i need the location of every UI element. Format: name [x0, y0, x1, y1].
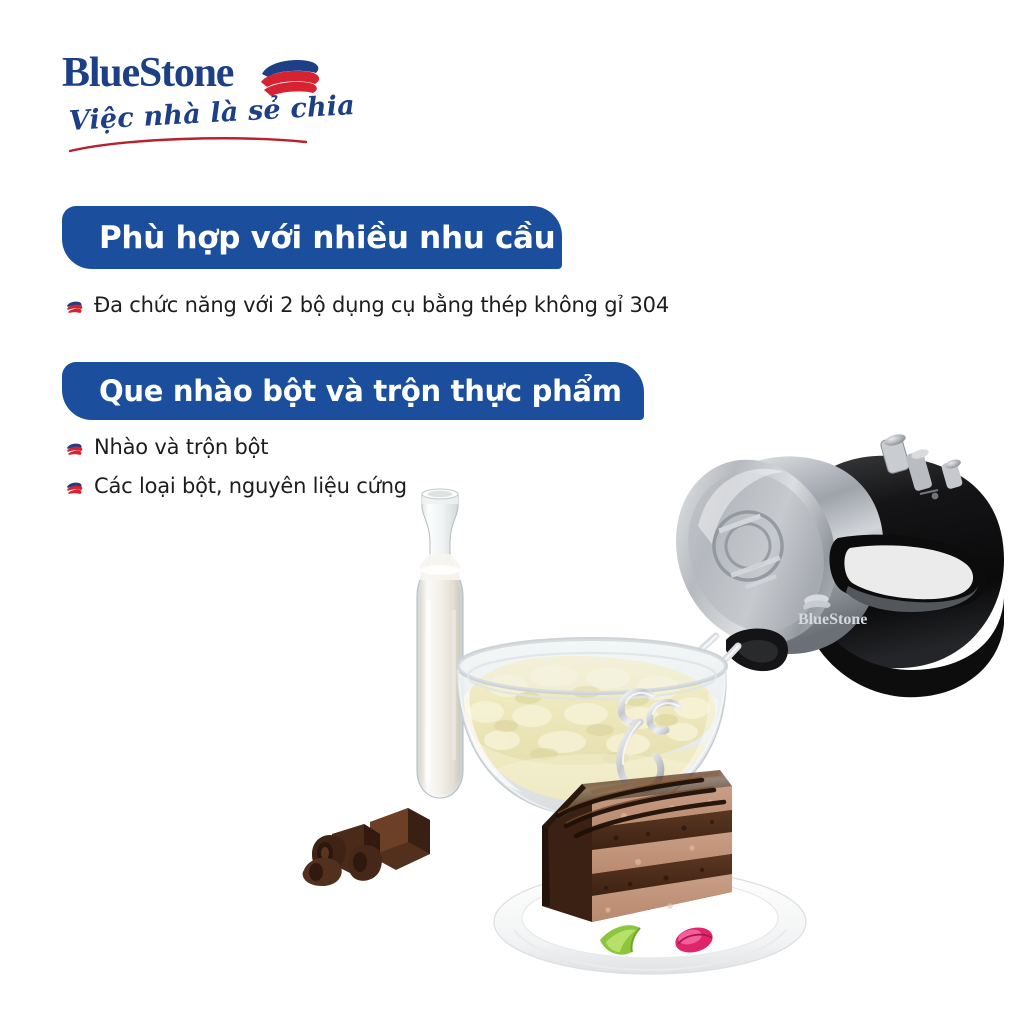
- section-heading-label-2: Que nhào bột và trộn thực phẩm: [99, 374, 622, 408]
- chocolate-pieces-group: [303, 808, 430, 886]
- section-heading-bar-2: Que nhào bột và trộn thực phẩm: [62, 362, 644, 420]
- milk-bottle-group: [417, 489, 463, 798]
- feature-bullet-label: Nhào và trộn bột: [94, 434, 268, 460]
- feature-bullet-label: Đa chức năng với 2 bộ dụng cụ bằng thép …: [94, 292, 669, 318]
- svg-text:BlueStone: BlueStone: [798, 611, 867, 628]
- brand-tagline: Việc nhà là sẻ chia: [68, 106, 318, 154]
- section-heading-bar-1: Phù hợp với nhiều nhu cầu: [62, 206, 562, 269]
- bluestone-bullet-icon: [66, 301, 83, 314]
- feature-bullet-item: Nhào và trộn bột: [66, 434, 268, 460]
- bluestone-bullet-icon: [66, 482, 83, 495]
- bluestone-bullet-icon: [66, 443, 83, 456]
- section-heading-label-1: Phù hợp với nhiều nhu cầu: [99, 220, 555, 256]
- product-photo: BlueStone: [300, 430, 1024, 1024]
- tagline-underline-swoosh-icon: [66, 134, 312, 156]
- product-infographic-page: BlueStone Việc nhà là sẻ chia Phù hợp vớ…: [0, 0, 1024, 1024]
- brand-wordmark: BlueStone: [62, 52, 233, 94]
- feature-bullet-item: Đa chức năng với 2 bộ dụng cụ bằng thép …: [66, 292, 669, 318]
- brand-tagline-text: Việc nhà là sẻ chia: [68, 90, 356, 137]
- brand-logo: BlueStone Việc nhà là sẻ chia: [62, 52, 332, 162]
